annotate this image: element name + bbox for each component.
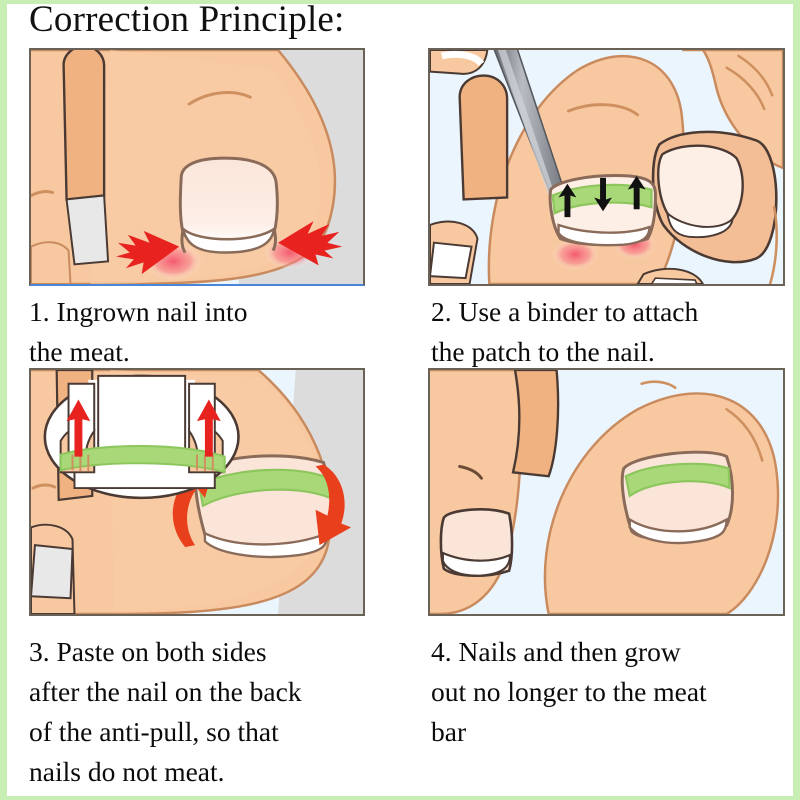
caption-3-line-1: 3. Paste on both sides	[29, 632, 419, 672]
caption-3-line-3: of the anti-pull, so that	[29, 712, 419, 752]
middle-toe	[513, 370, 558, 476]
caption-2: 2. Use a binder to attach the patch to t…	[431, 292, 800, 372]
caption-2-line-1: 2. Use a binder to attach	[431, 292, 800, 332]
caption-3-line-2: after the nail on the back	[29, 672, 419, 712]
bottom-green-border	[7, 796, 793, 800]
apply-patch-illustration	[430, 50, 783, 284]
ingrown-nail-illustration	[31, 50, 363, 284]
paste-both-sides-illustration	[31, 370, 363, 614]
caption-4-line-1: 4. Nails and then grow	[431, 632, 800, 672]
panel-4-corrected-nail	[428, 368, 785, 616]
caption-1-line-2: the meat.	[29, 332, 409, 372]
caption-1: 1. Ingrown nail into the meat.	[29, 292, 409, 372]
caption-4: 4. Nails and then grow out no longer to …	[431, 632, 800, 752]
caption-3: 3. Paste on both sides after the nail on…	[29, 632, 419, 792]
infographic-root: Correction Principle:	[0, 0, 800, 800]
magnifier-inset-circle	[45, 376, 239, 498]
panel-3-paste-both-sides	[29, 368, 365, 616]
panel-1-ingrown-nail	[29, 48, 365, 286]
caption-4-line-2: out no longer to the meat	[431, 672, 800, 712]
caption-1-line-1: 1. Ingrown nail into	[29, 292, 409, 332]
neighbor-toe-nail	[67, 196, 109, 265]
caption-2-line-2: the patch to the nail.	[431, 332, 800, 372]
page-title: Correction Principle:	[29, 0, 345, 42]
panel-2-apply-patch	[428, 48, 785, 286]
corrected-nail-illustration	[430, 370, 783, 614]
left-finger	[460, 76, 507, 200]
caption-3-line-4: nails do not meat.	[29, 752, 419, 792]
caption-4-line-3: bar	[431, 712, 800, 752]
neighbor-toe	[64, 50, 105, 199]
